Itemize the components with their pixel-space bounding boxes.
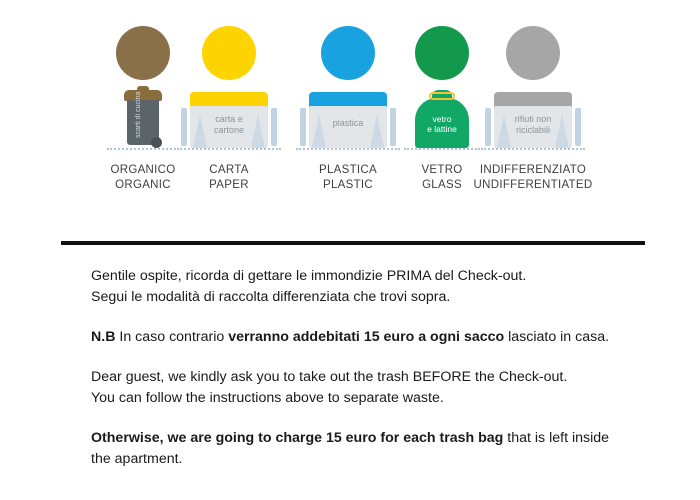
notice-english-warning: Otherwise, we are going to charge 15 eur… [91, 428, 621, 470]
container-label-line2: riciclabili [485, 125, 581, 136]
container-label-line1: carta e [181, 114, 277, 125]
notice-english-intro: Dear guest, we kindly ask you to take ou… [91, 367, 621, 409]
container-illustration-undifferentiated: rifiuti non riciclabili [463, 88, 603, 150]
waste-bag-icon: carta e cartone [181, 92, 277, 148]
container-label-line2: cartone [181, 125, 277, 136]
notice-it-line1: Gentile ospite, ricorda di gettare le im… [91, 268, 526, 284]
nb-before-text: In caso contrario [115, 329, 228, 345]
container-label-line2: e lattine [415, 124, 469, 134]
notice-en-line1: Dear guest, we kindly ask you to take ou… [91, 369, 567, 385]
color-swatch-undifferentiated [506, 26, 560, 80]
notice-text-block: Gentile ospite, ricorda di gettare le im… [91, 266, 621, 481]
container-label-undifferentiated: rifiuti non riciclabili [485, 114, 581, 136]
notice-italian-warning: N.B In caso contrario verranno addebitat… [91, 327, 621, 348]
ground-line [177, 148, 281, 150]
section-divider [61, 241, 645, 245]
category-label-en: UNDIFFERENTIATED [448, 178, 618, 193]
nb-bold-text: verranno addebitati 15 euro a ogni sacco [228, 329, 504, 345]
wheelie-bin-icon: scarti di cucina [123, 90, 163, 148]
notice-italian-intro: Gentile ospite, ricorda di gettare le im… [91, 266, 621, 308]
waste-bag-icon: rifiuti non riciclabili [485, 92, 581, 148]
container-label-paper: carta e cartone [181, 114, 277, 136]
nb-label: N.B [91, 329, 115, 345]
notice-en-line2: You can follow the instructions above to… [91, 390, 444, 406]
notice-it-line2: Segui le modalità di raccolta differenzi… [91, 289, 450, 305]
glass-sack-icon: vetro e lattine [415, 90, 469, 148]
category-label-it: INDIFFERENZIATO [448, 163, 618, 178]
warn-bold-text: Otherwise, we are going to charge 15 eur… [91, 430, 503, 446]
sack-tie-ring [429, 92, 455, 100]
ground-line [481, 148, 585, 150]
category-labels-undifferentiated: INDIFFERENZIATO UNDIFFERENTIATED [448, 163, 618, 193]
color-swatch-plastic [321, 26, 375, 80]
waste-sorting-guide: scarti di cucina ORGANICO ORGANIC carta … [0, 0, 700, 215]
container-label-line1: rifiuti non [485, 114, 581, 125]
nb-after-text: lasciato in casa. [504, 329, 609, 345]
container-label-organic: scarti di cucina [135, 98, 143, 138]
color-swatch-paper [202, 26, 256, 80]
container-label-line1: vetro [415, 114, 469, 124]
container-label-glass: vetro e lattine [415, 114, 469, 134]
color-swatch-glass [415, 26, 469, 80]
waste-category-undifferentiated: rifiuti non riciclabili INDIFFERENZIATO … [463, 0, 603, 210]
